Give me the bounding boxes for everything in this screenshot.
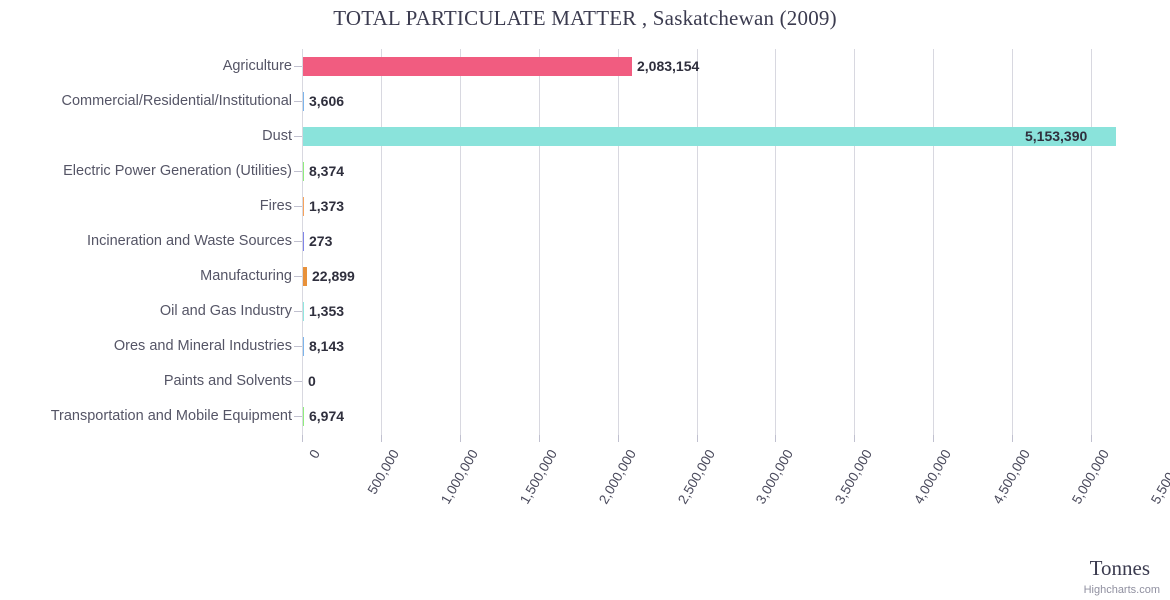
bar-value-label: 6,974 xyxy=(309,408,344,424)
bar-row: Ores and Mineral Industries8,143 xyxy=(0,329,1170,364)
bar-value-label: 2,083,154 xyxy=(637,58,699,74)
bar-value-label: 1,353 xyxy=(309,303,344,319)
x-axis-tick-label-text: 5,000,000 xyxy=(1069,447,1112,507)
x-axis-tick-label-text: 4,500,000 xyxy=(990,447,1033,507)
bar[interactable] xyxy=(303,57,632,76)
bar[interactable] xyxy=(303,267,307,286)
x-axis-tick-mark xyxy=(933,435,934,442)
bar-chart-container: TOTAL PARTICULATE MATTER , Saskatchewan … xyxy=(0,0,1170,600)
x-axis-tick-mark xyxy=(618,435,619,442)
bar-row: Fires1,373 xyxy=(0,189,1170,224)
category-tick xyxy=(294,311,302,312)
bar-value-label: 3,606 xyxy=(309,93,344,109)
bar[interactable] xyxy=(303,302,304,321)
bar[interactable] xyxy=(303,197,304,216)
bar-value-label: 22,899 xyxy=(312,268,355,284)
bar-row: Manufacturing22,899 xyxy=(0,259,1170,294)
category-label: Paints and Solvents xyxy=(164,364,292,399)
bar-row: Paints and Solvents0 xyxy=(0,364,1170,399)
category-label: Manufacturing xyxy=(200,259,292,294)
bar[interactable] xyxy=(303,337,304,356)
x-axis-tick-label-text: 1,500,000 xyxy=(517,447,560,507)
x-axis-tick-label-text: 500,000 xyxy=(365,447,402,497)
bar-value-label: 273 xyxy=(309,233,332,249)
bar-row: Transportation and Mobile Equipment6,974 xyxy=(0,399,1170,434)
highcharts-credit: Highcharts.com xyxy=(1084,584,1160,596)
bar[interactable] xyxy=(303,127,1116,146)
category-label: Ores and Mineral Industries xyxy=(114,329,292,364)
chart-title: TOTAL PARTICULATE MATTER , Saskatchewan … xyxy=(0,6,1170,31)
category-label: Transportation and Mobile Equipment xyxy=(51,399,292,434)
x-axis-tick-mark xyxy=(539,435,540,442)
category-tick xyxy=(294,136,302,137)
x-axis-tick-label-text: 0 xyxy=(306,447,323,461)
category-label: Commercial/Residential/Institutional xyxy=(62,84,293,119)
category-tick xyxy=(294,171,302,172)
x-axis-title: Tonnes xyxy=(1090,556,1150,581)
bar[interactable] xyxy=(303,407,304,426)
x-axis-tick-labels: 0500,0001,000,0001,500,0002,000,0002,500… xyxy=(0,435,1170,545)
bar-value-label: 5,153,390 xyxy=(1025,128,1087,144)
bar[interactable] xyxy=(303,162,304,181)
category-tick xyxy=(294,346,302,347)
bar-row: Commercial/Residential/Institutional3,60… xyxy=(0,84,1170,119)
x-axis-tick-label-text: 3,000,000 xyxy=(753,447,796,507)
bar-row: Electric Power Generation (Utilities)8,3… xyxy=(0,154,1170,189)
category-label: Agriculture xyxy=(223,49,292,84)
x-axis-tick-label-text: 2,000,000 xyxy=(596,447,639,507)
category-label: Fires xyxy=(260,189,292,224)
category-tick xyxy=(294,416,302,417)
category-tick xyxy=(294,101,302,102)
bar[interactable] xyxy=(303,92,304,111)
category-label: Incineration and Waste Sources xyxy=(87,224,292,259)
x-axis-tick-mark xyxy=(381,435,382,442)
category-label: Electric Power Generation (Utilities) xyxy=(63,154,292,189)
bar-value-label: 1,373 xyxy=(309,198,344,214)
category-tick xyxy=(294,381,302,382)
bar-row: Dust5,153,390 xyxy=(0,119,1170,154)
x-axis-tick-mark xyxy=(1091,435,1092,442)
x-axis-tick-label-text: 4,000,000 xyxy=(911,447,954,507)
bar-value-label: 0 xyxy=(308,373,316,389)
x-axis-tick-mark xyxy=(697,435,698,442)
bar-value-label: 8,143 xyxy=(309,338,344,354)
category-tick xyxy=(294,206,302,207)
category-tick xyxy=(294,276,302,277)
bar-value-label: 8,374 xyxy=(309,163,344,179)
x-axis-tick-mark xyxy=(854,435,855,442)
x-axis-tick-mark xyxy=(775,435,776,442)
category-label: Dust xyxy=(262,119,292,154)
x-axis-tick-label-text: 1,000,000 xyxy=(438,447,481,507)
x-axis-tick-label-text: 3,500,000 xyxy=(832,447,875,507)
category-tick xyxy=(294,66,302,67)
x-axis-tick-mark xyxy=(460,435,461,442)
bar-row: Agriculture2,083,154 xyxy=(0,49,1170,84)
category-label: Oil and Gas Industry xyxy=(160,294,292,329)
x-axis-tick-mark xyxy=(302,435,303,442)
x-axis-tick-mark xyxy=(1012,435,1013,442)
bar[interactable] xyxy=(303,232,304,251)
x-axis-tick-label-text: 2,500,000 xyxy=(675,447,718,507)
category-tick xyxy=(294,241,302,242)
bar-row: Incineration and Waste Sources273 xyxy=(0,224,1170,259)
bar-row: Oil and Gas Industry1,353 xyxy=(0,294,1170,329)
x-axis-tick-label-text: 5,500,000 xyxy=(1148,447,1170,507)
